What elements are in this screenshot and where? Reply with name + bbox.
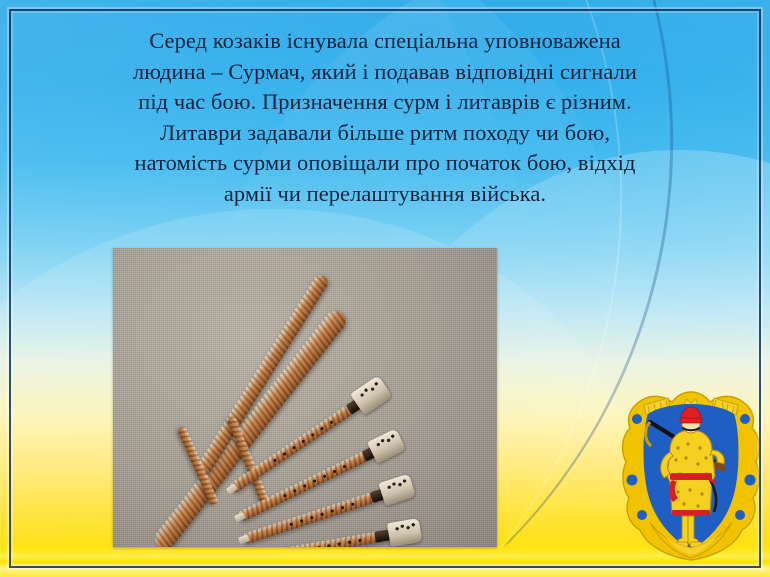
text-line: під час бою. Призначення сурм і литаврів…	[34, 87, 736, 118]
coa-belt	[670, 473, 712, 480]
text-line: Литаври задавали більше ритм походу чи б…	[34, 118, 736, 149]
instruments-photo	[113, 248, 497, 547]
text-line: армії чи перелаштування війська.	[34, 179, 736, 210]
slide-body-text: Серед козаків існувала спеціальна уповно…	[34, 26, 736, 209]
cossack-coat-of-arms	[620, 388, 762, 562]
slide: Серед козаків існувала спеціальна уповно…	[0, 0, 770, 577]
text-line: натомість сурми оповіщали про початок бо…	[34, 148, 736, 179]
text-line: Серед козаків існувала спеціальна уповно…	[34, 26, 736, 57]
text-line: людина – Сурмач, який і подавав відповід…	[34, 57, 736, 88]
